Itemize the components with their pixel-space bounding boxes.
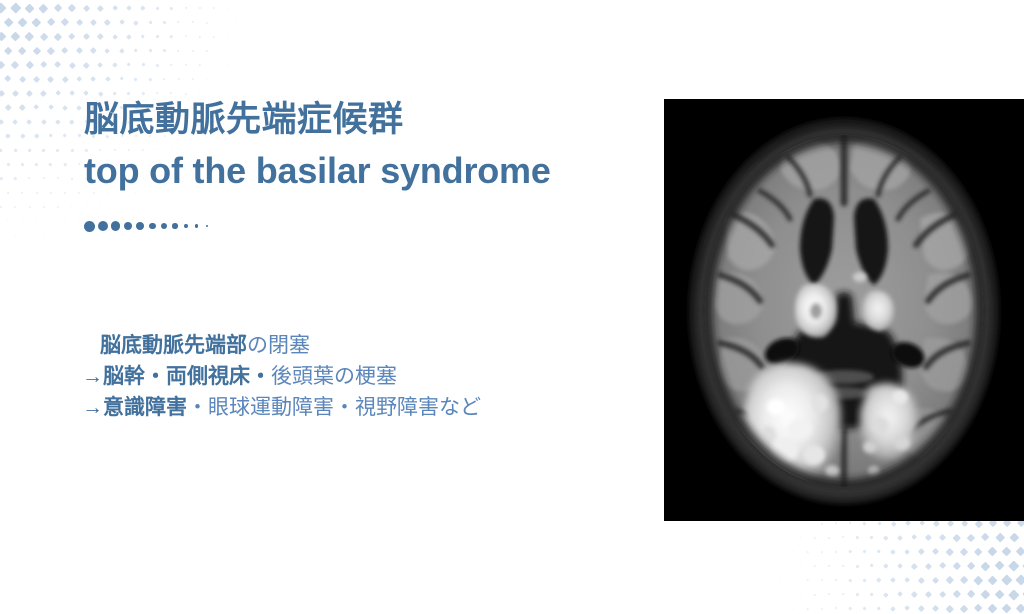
halftone-cell: [126, 63, 131, 68]
halftone-cell: [77, 134, 81, 138]
halftone-cell: [953, 590, 961, 598]
halftone-cell: [0, 3, 7, 14]
halftone-cell: [772, 565, 773, 566]
halftone-cell: [43, 206, 45, 208]
halftone-cell: [6, 162, 10, 166]
decorative-dot: [84, 221, 95, 232]
halftone-cell: [960, 548, 968, 556]
halftone-cell: [779, 523, 780, 524]
halftone-cell: [891, 577, 897, 583]
halftone-cell: [7, 191, 10, 194]
halftone-cell: [114, 206, 115, 207]
halftone-cell: [863, 606, 867, 610]
halftone-cell: [6, 133, 11, 138]
halftone-cell: [891, 521, 896, 526]
halftone-cell: [71, 263, 72, 264]
halftone-cell: [133, 20, 138, 25]
halftone-cell: [1016, 547, 1024, 557]
halftone-cell: [849, 607, 853, 611]
halftone-cell: [919, 520, 925, 526]
halftone-cell: [50, 220, 52, 222]
halftone-cell: [69, 62, 76, 69]
halftone-cell: [967, 562, 976, 571]
halftone-cell: [960, 604, 968, 612]
halftone-cell: [870, 564, 875, 569]
halftone-cell: [128, 206, 129, 207]
halftone-cell: [270, 8, 271, 9]
body-line-1-normal: の閉塞: [247, 334, 310, 357]
halftone-cell: [78, 163, 81, 166]
halftone-cell: [50, 249, 51, 250]
halftone-cell: [22, 277, 23, 278]
halftone-cell: [97, 5, 104, 12]
halftone-cell: [849, 578, 853, 582]
halftone-cell: [126, 34, 131, 39]
halftone-cell: [119, 19, 125, 25]
halftone-cell: [870, 592, 875, 597]
decorative-dot: [98, 221, 108, 231]
halftone-cell: [235, 22, 236, 23]
halftone-cell: [918, 548, 925, 555]
halftone-cell: [191, 21, 194, 24]
halftone-cell: [904, 606, 910, 612]
halftone-cell: [967, 590, 976, 599]
halftone-cell: [170, 63, 173, 66]
halftone-cell: [912, 535, 918, 541]
halftone-cell: [156, 92, 159, 95]
halftone-cell: [877, 521, 881, 525]
halftone-cell: [171, 206, 172, 207]
halftone-cell: [62, 76, 69, 83]
halftone-cell: [946, 576, 954, 584]
halftone-cell: [736, 580, 737, 581]
halftone-cell: [35, 162, 39, 166]
halftone-cell: [800, 565, 802, 567]
halftone-cell: [807, 579, 809, 581]
halftone-cell: [83, 33, 90, 40]
halftone-cell: [42, 177, 45, 180]
halftone-cell: [56, 177, 59, 180]
decorative-dot: [184, 224, 188, 228]
halftone-cell: [184, 64, 187, 67]
halftone-cell: [100, 263, 101, 264]
body-line-3: →意識障害・眼球運動障害・視野障害など: [82, 392, 602, 423]
halftone-cell: [835, 607, 838, 610]
halftone-cell: [24, 3, 34, 13]
halftone-cell: [26, 90, 33, 97]
halftone-cell: [814, 536, 816, 538]
halftone-cell: [877, 549, 882, 554]
halftone-cell: [1002, 604, 1012, 614]
halftone-cell: [884, 535, 889, 540]
halftone-cell: [898, 535, 904, 541]
halftone-cell: [821, 579, 824, 582]
halftone-cell: [19, 104, 25, 110]
halftone-cell: [85, 206, 87, 208]
halftone-cell: [981, 561, 991, 571]
halftone-cell: [793, 608, 795, 610]
halftone-cell: [228, 64, 229, 65]
halftone-cell: [141, 63, 145, 67]
halftone-cell: [897, 563, 903, 569]
halftone-cell: [177, 21, 181, 25]
halftone-cell: [911, 563, 917, 569]
halftone-cell: [83, 62, 89, 68]
halftone-cell: [779, 551, 780, 552]
halftone-cell: [227, 7, 229, 9]
halftone-cell: [22, 249, 23, 250]
halftone-cell: [249, 50, 250, 51]
halftone-cell: [758, 594, 759, 595]
halftone-cell: [779, 608, 780, 609]
halftone-cell: [41, 148, 45, 152]
halftone-cell: [33, 104, 39, 110]
halftone-cell: [71, 177, 74, 180]
halftone-cell: [119, 77, 124, 82]
halftone-cell: [98, 62, 104, 68]
halftone-cell: [786, 537, 787, 538]
halftone-cell: [793, 551, 795, 553]
halftone-cell: [50, 277, 51, 278]
halftone-cell: [57, 235, 58, 236]
halftone-cell: [47, 76, 54, 83]
halftone-cell: [835, 579, 838, 582]
halftone-cell: [105, 77, 110, 82]
halftone-cell: [814, 565, 816, 567]
halftone-cell: [932, 605, 939, 612]
title-block: 脳底動脈先端症候群 top of the basilar syndrome: [84, 96, 664, 196]
halftone-cell: [90, 19, 97, 26]
halftone-cell: [263, 50, 264, 51]
halftone-cell: [284, 8, 285, 9]
halftone-cell: [62, 105, 68, 111]
halftone-cell: [15, 263, 16, 264]
halftone-cell: [932, 548, 939, 555]
halftone-cell: [148, 20, 153, 25]
halftone-cell: [814, 593, 816, 595]
halftone-cell: [112, 34, 118, 40]
halftone-cell: [148, 49, 152, 53]
halftone-cell: [126, 5, 132, 11]
halftone-cell: [939, 534, 946, 541]
halftone-cell: [199, 92, 201, 94]
halftone-cell: [828, 593, 831, 596]
halftone-cell: [863, 550, 867, 554]
halftone-cell: [870, 535, 874, 539]
halftone-cell: [0, 177, 3, 181]
halftone-cell: [100, 206, 102, 208]
halftone-cell: [911, 591, 917, 597]
halftone-cell: [220, 21, 222, 23]
halftone-cell: [170, 6, 174, 10]
halftone-cell: [64, 249, 65, 250]
halftone-cell: [142, 206, 143, 207]
halftone-cell: [61, 18, 69, 26]
halftone-cell: [107, 249, 108, 250]
halftone-cell: [70, 119, 75, 124]
halftone-cell: [884, 563, 889, 568]
body-line-2: →脳幹・両側視床・後頭葉の梗塞: [82, 361, 602, 392]
halftone-cell: [765, 608, 766, 609]
halftone-cell: [995, 533, 1004, 542]
halftone-cell: [20, 162, 24, 166]
halftone-cell: [86, 263, 87, 264]
halftone-cell: [1009, 589, 1020, 600]
halftone-cell: [135, 249, 136, 250]
halftone-cell: [751, 523, 752, 524]
halftone-cell: [48, 134, 53, 139]
halftone-cell: [744, 594, 745, 595]
halftone-cell: [758, 565, 759, 566]
halftone-cell: [19, 75, 27, 83]
halftone-cell: [933, 520, 940, 527]
halftone-cell: [192, 78, 194, 80]
halftone-cell: [821, 550, 824, 553]
halftone-cell: [213, 93, 215, 95]
halftone-cell: [744, 565, 745, 566]
halftone-cell: [141, 6, 146, 11]
halftone-cell: [63, 163, 67, 167]
halftone-cell: [835, 522, 838, 525]
halftone-cell: [0, 263, 1, 264]
halftone-cell: [29, 263, 30, 264]
halftone-cell: [0, 206, 2, 209]
halftone-cell: [8, 249, 9, 250]
halftone-cell: [40, 61, 48, 69]
halftone-cell: [988, 604, 998, 614]
halftone-cell: [213, 64, 215, 66]
halftone-cell: [134, 77, 138, 81]
halftone-cell: [877, 578, 882, 583]
halftone-cell: [953, 562, 961, 570]
halftone-cell: [21, 191, 24, 194]
halftone-cell: [925, 562, 932, 569]
halftone-cell: [897, 591, 903, 597]
decorative-dot: [149, 223, 156, 230]
halftone-cell: [1009, 561, 1020, 572]
halftone-cell: [828, 565, 831, 568]
halftone-cell: [821, 607, 824, 610]
halftone-cell: [32, 18, 41, 27]
halftone-cell: [849, 522, 852, 525]
halftone-cell: [765, 551, 766, 552]
halftone-cell: [939, 562, 947, 570]
halftone-cell: [270, 36, 271, 37]
halftone-cell: [148, 77, 152, 81]
halftone-cell: [93, 249, 94, 250]
halftone-cell: [78, 192, 80, 194]
halftone-cell: [249, 79, 250, 80]
halftone-cell: [46, 18, 55, 27]
halftone-cell: [157, 206, 158, 207]
halftone-cell: [184, 7, 187, 10]
halftone-cell: [256, 93, 257, 94]
halftone-cell: [11, 32, 21, 42]
halftone-cell: [49, 162, 53, 166]
halftone-cell: [41, 119, 47, 125]
halftone-cell: [744, 537, 745, 538]
decorative-dot: [136, 222, 144, 230]
halftone-cell: [213, 36, 215, 38]
halftone-cell: [14, 206, 16, 208]
halftone-cell: [76, 76, 82, 82]
halftone-cell: [162, 49, 166, 53]
halftone-cell: [220, 78, 221, 79]
halftone-cell: [64, 191, 67, 194]
halftone-cell: [71, 206, 73, 208]
halftone-cell: [904, 549, 910, 555]
halftone-cell: [90, 48, 96, 54]
halftone-cell: [15, 235, 17, 237]
halftone-cell: [974, 547, 983, 556]
halftone-cell: [13, 148, 18, 153]
halftone-cell: [191, 49, 194, 52]
halftone-cell: [79, 249, 80, 250]
page-title-english: top of the basilar syndrome: [84, 146, 664, 196]
halftone-cell: [242, 93, 243, 94]
halftone-cell: [155, 63, 159, 67]
slide-canvas: 脳底動脈先端症候群 top of the basilar syndrome 脳底…: [0, 0, 1024, 576]
halftone-cell: [263, 79, 264, 80]
halftone-cell: [242, 8, 243, 9]
halftone-cell: [877, 606, 882, 611]
halftone-cell: [786, 565, 787, 566]
halftone-cell: [48, 105, 54, 111]
halftone-cell: [277, 50, 278, 51]
halftone-cell: [751, 551, 752, 552]
halftone-cell: [1015, 574, 1024, 585]
body-line-1-bold: 脳底動脈先端部: [100, 334, 247, 357]
decorative-dot: [206, 225, 209, 228]
halftone-cell: [821, 522, 823, 524]
halftone-cell: [751, 580, 752, 581]
halftone-cell: [856, 564, 860, 568]
halftone-cell: [68, 4, 76, 12]
halftone-cell: [162, 20, 166, 24]
halftone-cell: [43, 263, 44, 264]
halftone-cell: [220, 50, 222, 52]
halftone-cell: [925, 591, 932, 598]
halftone-cell: [112, 5, 118, 11]
halftone-cell: [242, 64, 243, 65]
halftone-cell: [1002, 547, 1012, 557]
halftone-cell: [11, 61, 19, 69]
halftone-cell: [835, 550, 838, 553]
halftone-cell: [800, 593, 802, 595]
halftone-cell: [170, 35, 174, 39]
halftone-cell: [77, 105, 82, 110]
halftone-cell: [206, 21, 208, 23]
halftone-cell: [55, 90, 61, 96]
halftone-cell: [988, 575, 998, 585]
halftone-cell: [256, 8, 257, 9]
body-line-2-bold: →脳幹・両側視床・: [82, 365, 271, 388]
halftone-cell: [263, 22, 264, 23]
halftone-cell: [0, 61, 5, 69]
halftone-cell: [772, 594, 773, 595]
decorative-dot: [172, 223, 177, 228]
halftone-cell: [177, 49, 180, 52]
decorative-dot: [111, 221, 120, 230]
halftone-cell: [786, 594, 787, 595]
halftone-cell: [90, 76, 96, 82]
halftone-cell: [36, 277, 37, 278]
halftone-cell: [21, 220, 23, 222]
halftone-cell: [974, 604, 983, 613]
halftone-cell: [828, 536, 831, 539]
halftone-cell: [71, 235, 72, 236]
halftone-cell: [54, 4, 63, 13]
body-line-3-normal: ・眼球運動障害・視野障害など: [187, 396, 481, 419]
halftone-cell: [36, 249, 37, 250]
halftone-cell: [863, 578, 867, 582]
halftone-cell: [35, 191, 38, 194]
halftone-cell: [277, 22, 278, 23]
halftone-cell: [953, 534, 961, 542]
halftone-cell: [69, 90, 75, 96]
halftone-cell: [960, 576, 969, 585]
halftone-cell: [14, 177, 18, 181]
halftone-cell: [213, 7, 215, 9]
decorative-dot: [195, 224, 199, 228]
halftone-cell: [1016, 603, 1024, 613]
halftone-cell: [76, 47, 83, 54]
halftone-cell: [1009, 533, 1019, 543]
halftone-cell: [47, 47, 55, 55]
halftone-cell: [939, 591, 947, 599]
halftone-cell: [10, 3, 21, 14]
halftone-cell: [4, 75, 12, 83]
halftone-cell: [27, 119, 33, 125]
halftone-cell: [184, 92, 186, 94]
halftone-cell: [39, 4, 48, 13]
halftone-cell: [925, 534, 932, 541]
halftone-cell: [34, 133, 39, 138]
halftone-cell: [12, 119, 18, 125]
halftone-cell: [256, 64, 257, 65]
halftone-cell: [18, 46, 27, 55]
halftone-cell: [78, 220, 79, 221]
halftone-cell: [981, 590, 991, 600]
halftone-cell: [54, 32, 62, 40]
halftone-cell: [1002, 575, 1013, 586]
halftone-cell: [57, 263, 58, 264]
body-line-3-bold: →意識障害: [82, 396, 187, 419]
halftone-cell: [40, 90, 47, 97]
halftone-cell: [946, 548, 954, 556]
halftone-cell: [155, 34, 159, 38]
halftone-cell: [12, 90, 19, 97]
halftone-cell: [256, 36, 257, 37]
halftone-cell: [946, 605, 954, 613]
halftone-cell: [155, 6, 159, 10]
halftone-cell: [0, 90, 5, 97]
halftone-cell: [105, 48, 111, 54]
halftone-cell: [891, 606, 896, 611]
halftone-cell: [70, 148, 74, 152]
halftone-cell: [199, 7, 202, 10]
halftone-cell: [800, 537, 802, 539]
halftone-cell: [7, 220, 9, 222]
halftone-cell: [227, 36, 229, 38]
halftone-cell: [3, 17, 13, 27]
halftone-cell: [43, 235, 44, 236]
halftone-cell: [206, 78, 208, 80]
halftone-cell: [849, 550, 853, 554]
halftone-cell: [199, 64, 201, 66]
halftone-cell: [891, 549, 896, 554]
halftone-cell: [28, 177, 31, 180]
